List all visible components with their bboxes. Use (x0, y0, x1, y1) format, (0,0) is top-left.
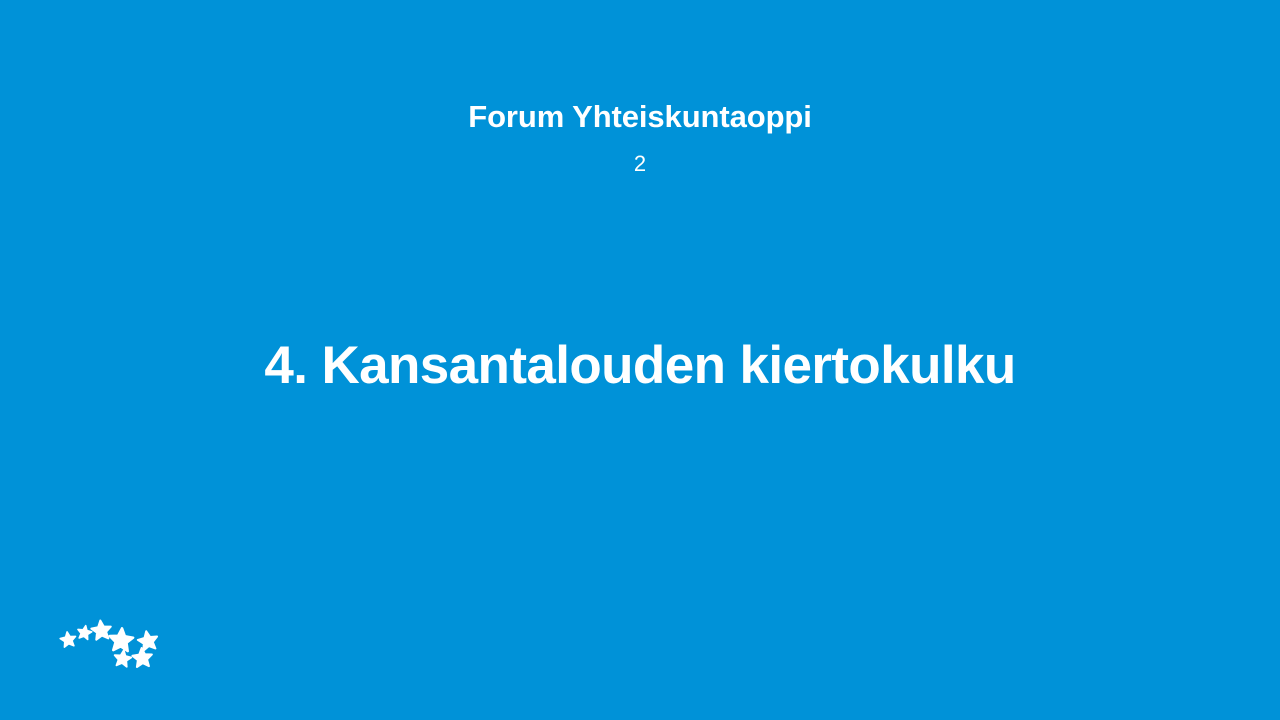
star-icon-2 (76, 624, 92, 640)
star-icon-3 (91, 620, 112, 640)
slide-header: Forum Yhteiskuntaoppi 2 (0, 96, 1280, 179)
stars-logo-icon (52, 610, 172, 684)
header-subtitle: 2 (0, 149, 1280, 179)
page-title: 4. Kansantalouden kiertokulku (0, 330, 1280, 402)
star-icon-4 (109, 628, 134, 652)
header-title: Forum Yhteiskuntaoppi (0, 96, 1280, 138)
star-icon-1 (59, 631, 76, 648)
star-icon-6 (113, 649, 132, 667)
slide-canvas: Forum Yhteiskuntaoppi 2 4. Kansantaloude… (0, 0, 1280, 720)
stars-logo (52, 610, 172, 684)
star-icon-5 (137, 630, 159, 652)
star-icon-7 (132, 647, 153, 667)
slide-main-title-container: 4. Kansantalouden kiertokulku (0, 330, 1280, 402)
